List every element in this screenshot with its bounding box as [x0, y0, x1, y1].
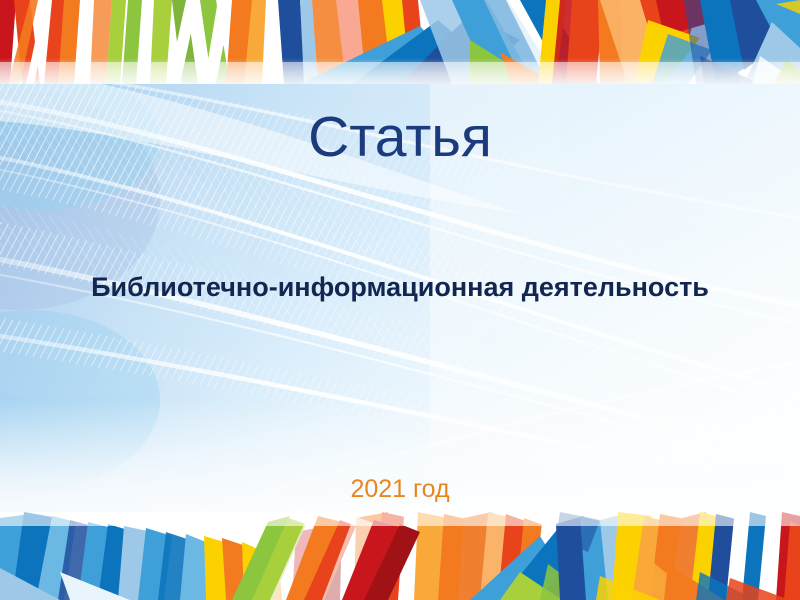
top-decorative-band	[0, 0, 800, 84]
bottom-decorative-band	[0, 512, 800, 600]
slide-subtitle: Библиотечно-информационная деятельность	[0, 272, 800, 303]
presentation-slide: Статья Библиотечно-информационная деятел…	[0, 0, 800, 600]
slide-title: Статья	[0, 108, 800, 168]
top-band-graphic	[0, 0, 800, 84]
slide-year: 2021 год	[0, 475, 800, 504]
bottom-band-graphic	[0, 512, 800, 600]
